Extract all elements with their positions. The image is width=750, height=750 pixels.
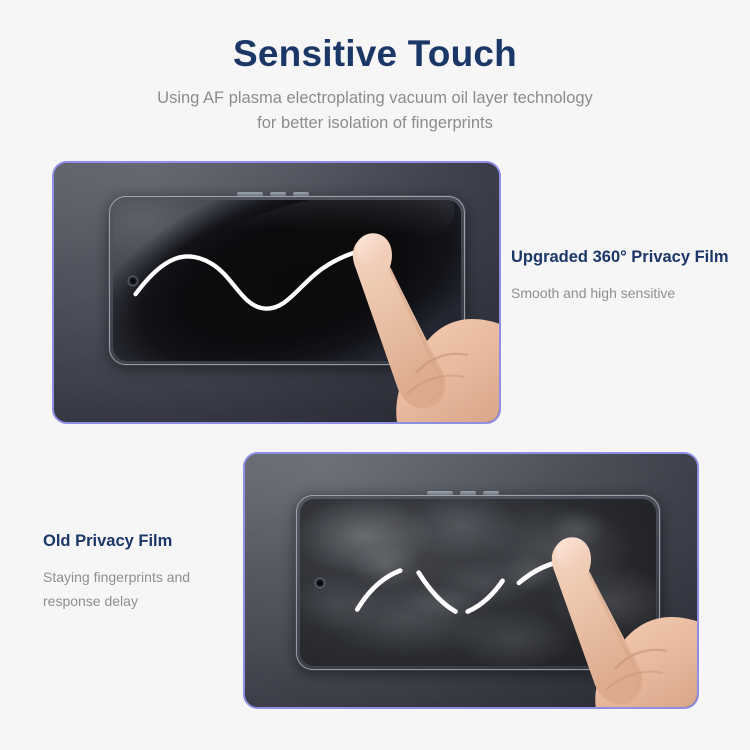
callout-new-film: Upgraded 360° Privacy Film Smooth and hi… <box>511 248 739 305</box>
page-subtitle-line1: Using AF plasma electroplating vacuum oi… <box>157 89 593 107</box>
side-button-icon <box>427 491 499 495</box>
phone-device-old <box>295 494 661 671</box>
callout-new-film-title: Upgraded 360° Privacy Film <box>511 248 739 268</box>
callout-old-film-description-line1: Staying fingerprints and <box>43 569 190 585</box>
callout-old-film: Old Privacy Film Staying fingerprints an… <box>43 532 253 614</box>
new-film-panel <box>52 161 501 424</box>
header: Sensitive Touch Using AF plasma electrop… <box>0 0 750 136</box>
side-button-icon <box>237 192 309 196</box>
phone-screen-smudged <box>300 499 656 666</box>
touch-trace-smooth <box>113 200 461 357</box>
callout-old-film-description-line2: response delay <box>43 593 138 609</box>
callout-new-film-description: Smooth and high sensitive <box>511 268 739 306</box>
phone-screen-clean <box>113 200 461 361</box>
page-subtitle-line2: for better isolation of fingerprints <box>257 114 493 132</box>
page-title: Sensitive Touch <box>0 0 750 75</box>
touch-trace-broken <box>300 499 656 662</box>
old-film-panel <box>243 452 699 709</box>
page-subtitle: Using AF plasma electroplating vacuum oi… <box>0 75 750 136</box>
callout-old-film-title: Old Privacy Film <box>43 532 253 552</box>
phone-device-new <box>108 195 466 366</box>
callout-old-film-description: Staying fingerprints and response delay <box>43 552 253 614</box>
